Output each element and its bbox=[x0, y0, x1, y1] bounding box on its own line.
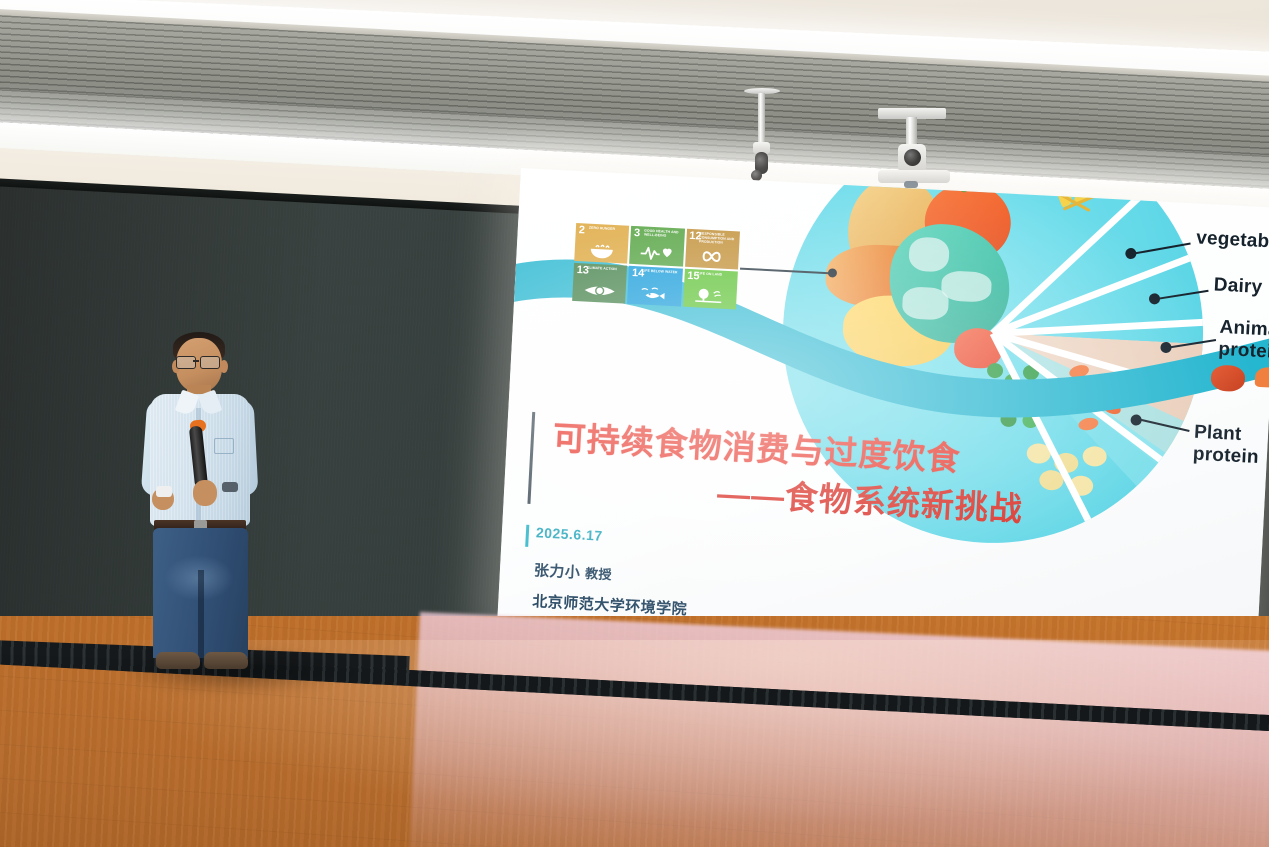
presenter-shoe-left bbox=[156, 652, 200, 669]
heartbeat-icon bbox=[630, 242, 684, 265]
label-vegetables: vegetabl bbox=[1196, 227, 1269, 253]
eye-globe-icon bbox=[572, 279, 626, 302]
sdg-number: 2 bbox=[579, 225, 586, 236]
bowl-icon bbox=[574, 239, 628, 262]
chickpea-3 bbox=[1082, 446, 1107, 467]
slide-date: 2025.6.17 bbox=[536, 524, 604, 543]
sdg-number: 3 bbox=[634, 228, 641, 239]
projector-lens-icon bbox=[904, 149, 921, 166]
sdg-label: RESPONSIBLE CONSUMPTION AND PRODUCTION bbox=[699, 232, 738, 246]
presentation-photo-scene: 2 ZERO HUNGER 3 GOOD HEALTH AND WELL-BEI… bbox=[0, 0, 1269, 847]
sdg-label: GOOD HEALTH AND WELL-BEING bbox=[644, 230, 683, 240]
presenter-name: 张力小 bbox=[533, 562, 580, 581]
infinity-icon bbox=[685, 245, 739, 268]
presenter-title: 教授 bbox=[585, 566, 613, 582]
presentation-slide: 2 ZERO HUNGER 3 GOOD HEALTH AND WELL-BEI… bbox=[497, 168, 1269, 667]
sdg-label: LIFE ON LAND bbox=[697, 272, 735, 278]
sdg-icon-14: 14 LIFE BELOW WATER bbox=[627, 266, 682, 307]
glasses-lens-right-icon bbox=[200, 356, 220, 369]
glasses-bridge-icon bbox=[193, 360, 199, 362]
label-animal-protein-2: protein bbox=[1218, 339, 1269, 364]
presenter bbox=[130, 330, 280, 670]
presenter-shoe-right bbox=[204, 652, 248, 669]
presenter-name-line: 张力小 教授 bbox=[533, 559, 612, 584]
sdg-icon-12: 12 RESPONSIBLE CONSUMPTION AND PRODUCTIO… bbox=[685, 229, 740, 270]
sdg-label: CLIMATE ACTION bbox=[587, 267, 625, 273]
tree-bird-icon bbox=[683, 285, 737, 308]
projector-pole bbox=[906, 117, 917, 147]
sdg-icon-15: 15 LIFE ON LAND bbox=[683, 269, 738, 310]
sdg-icon-grid: 2 ZERO HUNGER 3 GOOD HEALTH AND WELL-BEI… bbox=[572, 223, 740, 309]
projector-connector bbox=[904, 181, 918, 188]
camera-pole bbox=[758, 93, 765, 145]
ceiling-projector bbox=[878, 108, 950, 200]
label-plant-protein-1: Plant bbox=[1193, 422, 1242, 446]
glasses-lens-left-icon bbox=[176, 356, 196, 369]
presenter-hand-right bbox=[193, 480, 217, 506]
label-dairy: Dairy bbox=[1213, 274, 1263, 299]
label-plant-protein-2: protein bbox=[1192, 444, 1259, 469]
sdg-icon-2: 2 ZERO HUNGER bbox=[574, 223, 629, 264]
presentation-clicker bbox=[156, 486, 172, 497]
sdg-label: LIFE BELOW WATER bbox=[642, 269, 680, 275]
wristwatch bbox=[222, 482, 238, 492]
meat-illustration bbox=[1210, 364, 1245, 392]
sdg-label: ZERO HUNGER bbox=[589, 227, 627, 233]
presenter-ear-right bbox=[220, 360, 228, 373]
sdg-icon-13: 13 CLIMATE ACTION bbox=[572, 263, 627, 304]
ceiling-camera bbox=[742, 88, 782, 183]
jeans-inseam bbox=[198, 570, 204, 662]
shirt-pocket bbox=[214, 438, 234, 454]
sdg-icon-3: 3 GOOD HEALTH AND WELL-BEING bbox=[629, 226, 684, 267]
fish-icon bbox=[627, 282, 681, 305]
